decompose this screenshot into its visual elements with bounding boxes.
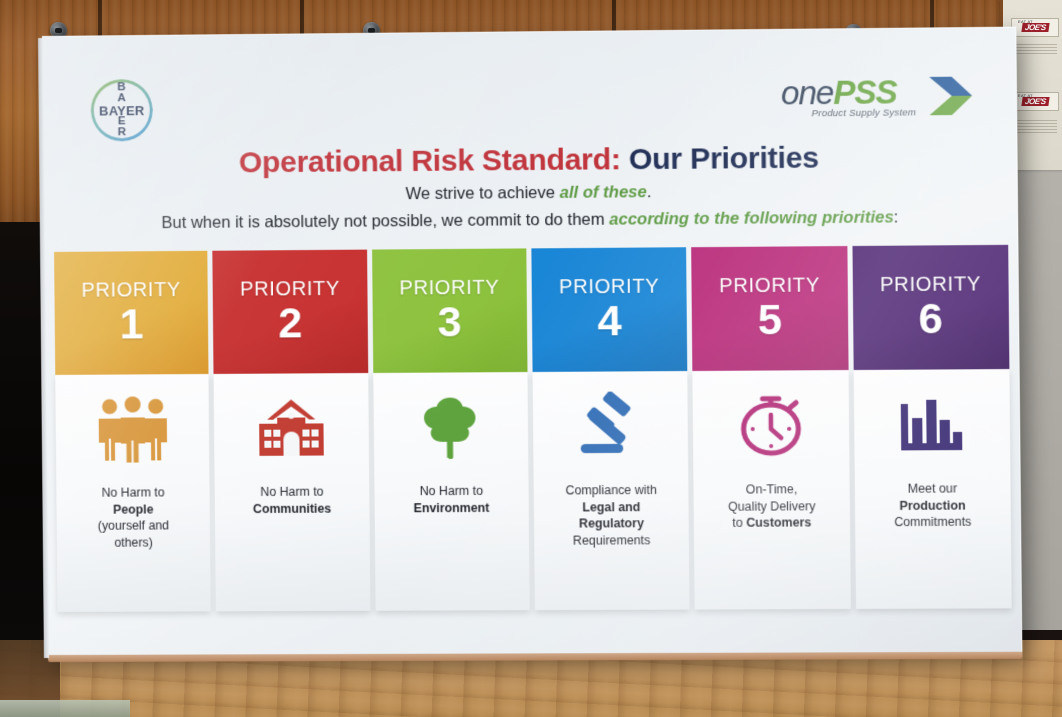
caption-line: Regulatory xyxy=(566,515,657,532)
tree-icon xyxy=(412,392,489,463)
onepss-logo: onePSS Product Supply System xyxy=(781,73,975,129)
subtitle2-plain-before: But when it is absolutely not possible, … xyxy=(161,211,609,233)
priority-header-5: PRIORITY5 xyxy=(691,246,848,371)
onepss-one-text: one xyxy=(781,74,834,112)
caption-line: others) xyxy=(98,534,169,551)
priority-card-1[interactable]: No Harm toPeople(yourself andothers) xyxy=(55,374,211,612)
priority-column-6[interactable]: PRIORITY6 Meet ourProductionCommitments xyxy=(852,245,1012,609)
subtitle1-plain-before: We strive to achieve xyxy=(405,184,559,203)
subtitle2-emphasis: according to the following priorities xyxy=(609,208,894,228)
caption-line: No Harm to xyxy=(253,484,331,501)
priority-label: PRIORITY xyxy=(81,279,181,302)
priority-label: PRIORITY xyxy=(240,278,340,301)
subtitle1-plain-after: . xyxy=(647,183,652,201)
subtitle2-plain-after: : xyxy=(894,208,899,226)
priority-icon-wrap xyxy=(94,390,171,468)
priority-icon-wrap xyxy=(893,385,971,464)
priority-number: 5 xyxy=(758,298,783,342)
notice-logo-icon: EAT ATJOE'S xyxy=(1011,18,1059,37)
priority-header-1: PRIORITY1 xyxy=(54,251,209,375)
caption-emphasis: Customers xyxy=(746,515,811,529)
poster-board: B A Y E R BAYER onePSS Product Supply Sy… xyxy=(42,27,1022,656)
caption-line: Quality Delivery xyxy=(728,498,816,515)
caption-line: No Harm to xyxy=(413,483,489,500)
priority-caption: Compliance withLegal andRegulatoryRequir… xyxy=(561,482,661,549)
caption-line: Communities xyxy=(253,500,331,517)
priority-card-4[interactable]: Compliance withLegal andRegulatoryRequir… xyxy=(533,371,690,610)
priority-caption: No Harm toPeople(yourself andothers) xyxy=(93,484,173,550)
caption-emphasis: Legal and xyxy=(582,500,640,514)
priority-number: 1 xyxy=(119,302,143,346)
floor-edge-strip xyxy=(0,700,130,717)
priority-icon-wrap xyxy=(253,389,330,468)
priority-caption: Meet ourProductionCommitments xyxy=(890,480,976,530)
priority-number: 4 xyxy=(597,299,622,343)
priority-column-2[interactable]: PRIORITY2 No Harm toCommunities xyxy=(213,250,371,612)
subtitle-line-1: We strive to achieve all of these. xyxy=(43,180,1017,207)
subtitle-line-2: But when it is absolutely not possible, … xyxy=(44,207,1018,234)
three-people-icon xyxy=(94,394,171,464)
notice-logo-icon: EAT ATJOE'S xyxy=(1011,92,1059,111)
priority-icon-wrap xyxy=(732,386,810,465)
caption-line: No Harm to xyxy=(97,484,168,501)
priority-grid: PRIORITY1 No Harm toPeople(yourself ando… xyxy=(54,245,1012,612)
onepss-pss-text: PSS xyxy=(833,73,897,111)
priority-caption: No Harm toCommunities xyxy=(249,484,336,518)
caption-line: Production xyxy=(894,497,971,514)
priority-header-4: PRIORITY4 xyxy=(531,247,687,372)
caption-line: People xyxy=(98,501,169,518)
onepss-tagline: Product Supply System xyxy=(812,107,917,119)
caption-emphasis: Production xyxy=(899,498,965,512)
priority-header-6: PRIORITY6 xyxy=(852,245,1009,370)
caption-emphasis: Regulatory xyxy=(579,516,644,530)
priority-column-3[interactable]: PRIORITY3 No Harm toEnvironment xyxy=(372,248,530,610)
priority-label: PRIORITY xyxy=(399,277,499,300)
title-red-part: Operational Risk Standard: xyxy=(239,143,621,179)
priority-column-4[interactable]: PRIORITY4 Compliance withLegal andRegula… xyxy=(531,247,690,610)
caption-line: Compliance with xyxy=(565,482,656,499)
priority-column-1[interactable]: PRIORITY1 No Harm toPeople(yourself ando… xyxy=(54,251,211,612)
priority-caption: No Harm toEnvironment xyxy=(409,483,493,517)
caption-line: Legal and xyxy=(566,499,657,516)
priority-number: 2 xyxy=(278,301,302,345)
caption-line: (yourself and xyxy=(98,517,169,534)
priority-label: PRIORITY xyxy=(880,273,981,296)
caption-emphasis: Environment xyxy=(414,500,490,514)
caption-line: Commitments xyxy=(894,514,971,531)
caption-emphasis: Communities xyxy=(253,501,331,515)
priority-card-6[interactable]: Meet ourProductionCommitments xyxy=(853,369,1011,609)
priority-icon-wrap xyxy=(572,387,650,466)
bayer-logo: B A Y E R BAYER xyxy=(90,79,153,142)
priority-column-5[interactable]: PRIORITY5 On-Time,Quality Deliveryto Cus… xyxy=(691,246,850,610)
caption-line: Requirements xyxy=(566,532,657,549)
bar-chart-icon xyxy=(893,389,971,460)
stopwatch-icon xyxy=(732,390,810,461)
priority-icon-wrap xyxy=(412,388,489,467)
chevron-arrow-icon xyxy=(927,76,974,117)
priority-card-2[interactable]: No Harm toCommunities xyxy=(214,373,370,611)
priority-number: 3 xyxy=(437,300,462,344)
caption-line: Environment xyxy=(414,499,490,516)
gavel-icon xyxy=(572,391,650,462)
priority-card-3[interactable]: No Harm toEnvironment xyxy=(373,372,530,611)
priority-caption: On-Time,Quality Deliveryto Customers xyxy=(724,481,820,531)
priority-number: 6 xyxy=(918,297,943,342)
caption-emphasis: People xyxy=(113,502,154,516)
priority-header-3: PRIORITY3 xyxy=(372,248,528,373)
title-navy-part: Our Priorities xyxy=(629,141,819,176)
page-title: Operational Risk Standard: Our Prioritie… xyxy=(43,140,1018,182)
caption-line: On-Time, xyxy=(728,481,816,498)
subtitle1-emphasis: all of these xyxy=(560,183,647,202)
bayer-horizontal-text: BAYER xyxy=(91,103,153,119)
bayer-letter: R xyxy=(91,127,153,139)
priority-header-2: PRIORITY2 xyxy=(213,250,368,374)
caption-line: to Customers xyxy=(728,514,816,531)
caption-line: Meet our xyxy=(894,480,971,497)
priority-label: PRIORITY xyxy=(719,274,820,297)
priority-card-5[interactable]: On-Time,Quality Deliveryto Customers xyxy=(693,370,851,610)
school-building-icon xyxy=(253,393,330,464)
priority-label: PRIORITY xyxy=(559,276,660,299)
